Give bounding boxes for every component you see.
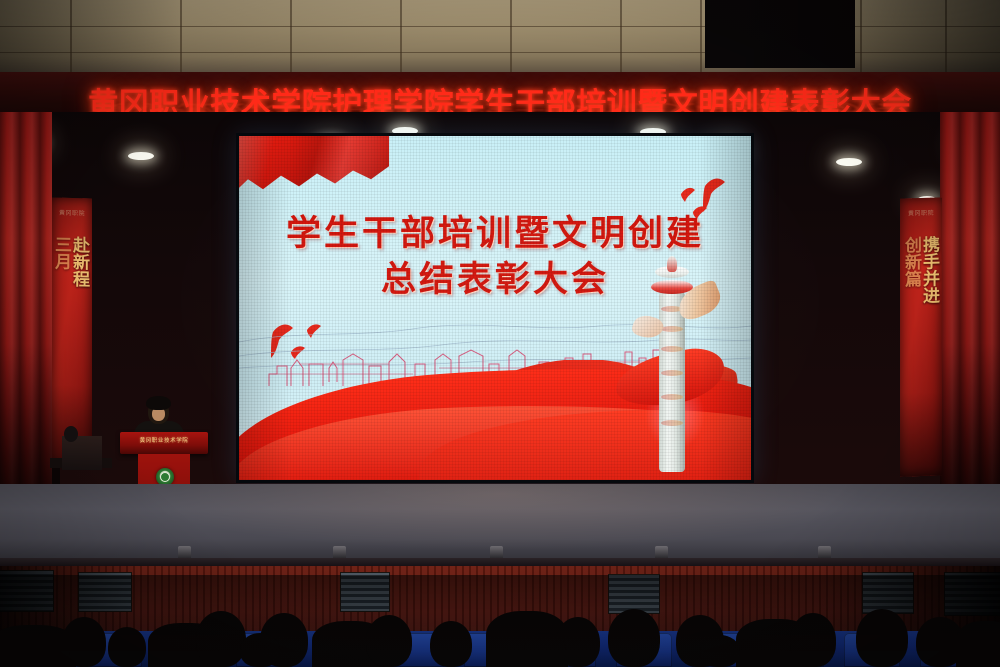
led-title-line-1: 学生干部培训暨文明创建: [239, 214, 751, 254]
auditorium-photo: 黄冈职业技术学院护理学院学生干部培训暨文明创建表彰大会 黄冈职业技术学院护理学院…: [0, 0, 1000, 667]
footlight: [818, 546, 831, 558]
seated-staff-head: [64, 426, 78, 442]
footlight: [655, 546, 668, 558]
red-flag-graphic: [239, 136, 389, 208]
podium-nameplate: 黄冈职业技术学院: [120, 436, 208, 444]
ceiling-panels: [0, 0, 1000, 78]
podium-top: 黄冈职业技术学院: [120, 432, 208, 454]
led-display-screen: 学生干部培训暨文明创建 总结表彰大会: [236, 133, 754, 483]
led-screen-content: 学生干部培训暨文明创建 总结表彰大会: [239, 136, 751, 480]
ceiling-spotlight: [836, 158, 862, 166]
speaker-hair: [146, 396, 171, 410]
footlight: [490, 546, 503, 558]
ceiling-spotlight: [128, 152, 154, 160]
footlight: [178, 546, 191, 558]
stage-floor: [0, 484, 1000, 568]
huabiao-column-graphic: [625, 260, 717, 476]
audience-area: [0, 575, 1000, 667]
footlight: [333, 546, 346, 558]
vertical-banner-right: 黄冈职院 携手并进 创新篇: [900, 197, 942, 476]
